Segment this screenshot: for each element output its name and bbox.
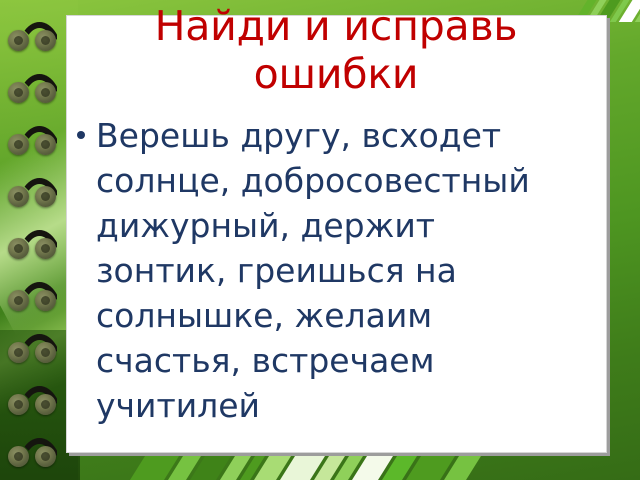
spiral-ring-disc-left — [8, 238, 29, 259]
body-bullet-line: солнце, добросовестный — [96, 158, 602, 203]
spiral-ring-icon — [8, 176, 60, 208]
spiral-ring-icon — [8, 72, 60, 104]
spiral-ring-icon — [8, 20, 60, 52]
spiral-ring-disc-left — [8, 30, 29, 51]
spiral-ring-disc-right — [35, 342, 56, 363]
body-bullet-line: дижурный, держит — [96, 203, 602, 248]
spiral-ring-icon — [8, 124, 60, 156]
spiral-ring-disc-left — [8, 446, 29, 467]
body-bullet-line: учитилей — [96, 383, 602, 428]
spiral-ring-icon — [8, 332, 60, 364]
spiral-ring-icon — [8, 228, 60, 260]
spiral-ring-disc-left — [8, 186, 29, 207]
presentation-slide: Найди и исправьошибки Верешь другу, всхо… — [0, 0, 640, 480]
slide-body: Верешь другу, всходетсолнце, добросовест… — [74, 113, 602, 428]
slide-title-line: ошибки — [78, 50, 594, 98]
spiral-ring-disc-left — [8, 342, 29, 363]
spiral-ring-disc-right — [35, 446, 56, 467]
spiral-ring-icon — [8, 280, 60, 312]
slide-title: Найди и исправьошибки — [78, 2, 594, 98]
spiral-ring-disc-left — [8, 134, 29, 155]
bullet-dot-icon — [77, 131, 85, 139]
spiral-ring-icon — [8, 436, 60, 468]
diagonal-stripes-bottom — [100, 452, 520, 480]
spiral-ring-disc-right — [35, 186, 56, 207]
spiral-ring-disc-right — [35, 394, 56, 415]
spiral-ring-disc-right — [35, 290, 56, 311]
body-bullet-line: счастья, встречаем — [96, 338, 602, 383]
slide-title-line: Найди и исправь — [78, 2, 594, 50]
spiral-ring-disc-right — [35, 134, 56, 155]
body-bullet-line: Верешь другу, всходет — [96, 113, 602, 158]
spiral-ring-disc-right — [35, 82, 56, 103]
spiral-ring-disc-left — [8, 290, 29, 311]
body-bullet-line: зонтик, греишься на — [96, 248, 602, 293]
spiral-ring-disc-left — [8, 82, 29, 103]
body-bullet-line: солнышке, желаим — [96, 293, 602, 338]
spiral-ring-disc-right — [35, 238, 56, 259]
body-bullet-item: Верешь другу, всходетсолнце, добросовест… — [74, 113, 602, 428]
spiral-ring-disc-right — [35, 30, 56, 51]
spiral-ring-disc-left — [8, 394, 29, 415]
spiral-ring-icon — [8, 384, 60, 416]
